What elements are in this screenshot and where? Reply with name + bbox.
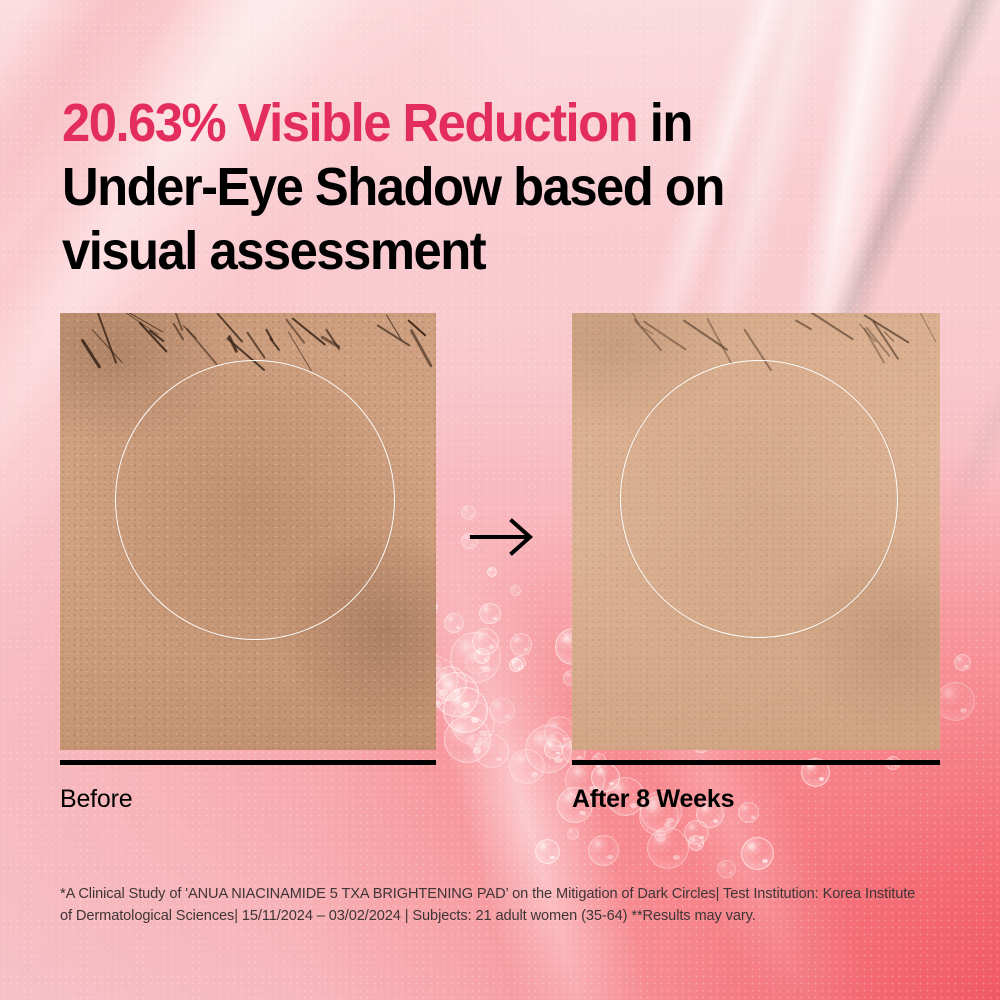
headline-line1-tail: in [637, 93, 692, 153]
after-divider [572, 760, 940, 765]
after-label: After 8 Weeks [572, 785, 734, 814]
after-photo [572, 313, 940, 750]
brow-hair [706, 318, 732, 365]
headline-line2: Under-Eye Shadow based on [62, 157, 724, 217]
brow-hair [409, 328, 432, 367]
brow-hair [183, 325, 198, 339]
before-circle-annotation-icon [115, 360, 395, 640]
headline-accent: 20.63% Visible Reduction [62, 93, 637, 153]
brow-hair [809, 313, 854, 340]
brow-hair [81, 339, 101, 369]
before-photo [60, 313, 436, 750]
brow-hair [794, 319, 812, 330]
before-divider [60, 760, 436, 765]
headline-line3: visual assessment [62, 221, 485, 281]
page-title: 20.63% Visible Reduction inUnder-Eye Sha… [62, 92, 889, 283]
after-circle-annotation-icon [620, 360, 898, 638]
brow-hair [269, 337, 280, 351]
right-arrow-icon [468, 518, 540, 556]
brow-hair [918, 313, 936, 342]
study-disclaimer: *A Clinical Study of 'ANUA NIACINAMIDE 5… [60, 883, 918, 929]
brow-hair [92, 330, 123, 364]
before-label: Before [60, 785, 132, 814]
brow-hair [408, 319, 427, 337]
brow-hair [682, 319, 728, 351]
